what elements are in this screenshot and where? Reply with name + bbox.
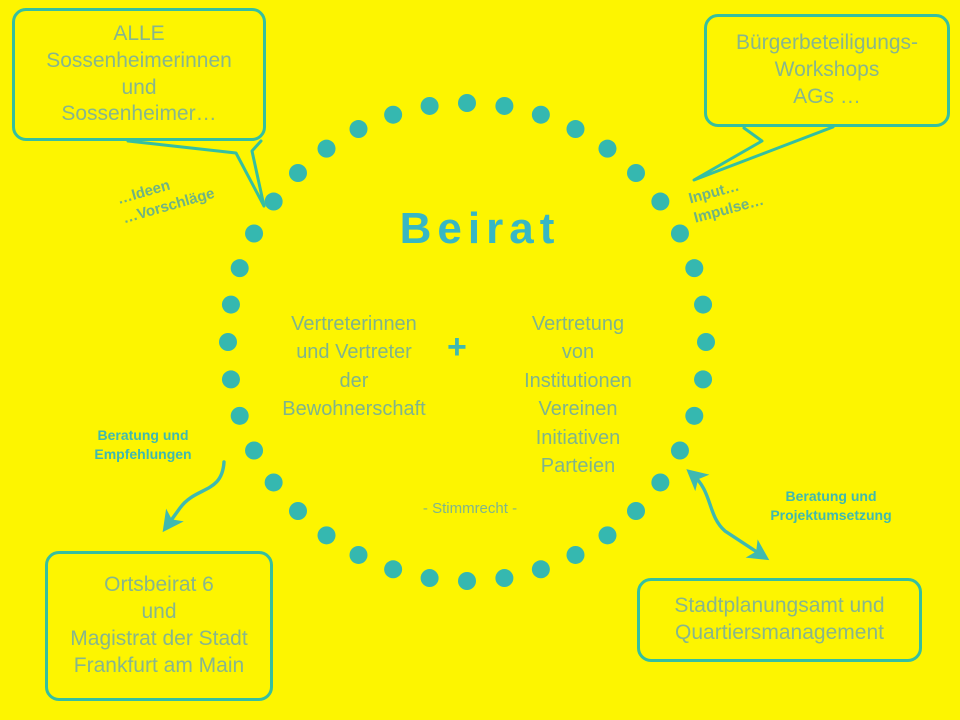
annotation-beratung-empfehlungen: Beratung und Empfehlungen — [73, 426, 213, 464]
circle-dot — [532, 560, 550, 578]
circle-dot — [694, 296, 712, 314]
circle-dot — [384, 560, 402, 578]
circle-dot — [265, 473, 283, 491]
callout-ortsbeirat[interactable]: Ortsbeirat 6 und Magistrat der Stadt Fra… — [45, 551, 273, 701]
circle-dot — [495, 569, 513, 587]
plus-icon: + — [447, 330, 467, 364]
callout-workshops[interactable]: Bürgerbeteiligungs- Workshops AGs … — [704, 14, 950, 127]
circle-dot — [694, 370, 712, 388]
circle-dot — [219, 333, 237, 351]
circle-dot — [318, 526, 336, 544]
circle-dot — [671, 442, 689, 460]
voting-rights-note: - Stimmrecht - — [360, 500, 580, 517]
circle-dot — [627, 502, 645, 520]
circle-dot — [245, 442, 263, 460]
callout-stadtplanungsamt[interactable]: Stadtplanungsamt und Quartiersmanagement — [637, 578, 922, 662]
circle-dot — [421, 97, 439, 115]
circle-dot — [222, 370, 240, 388]
circle-dot — [598, 526, 616, 544]
circle-dot — [627, 164, 645, 182]
circle-dot — [231, 407, 249, 425]
circle-dot — [318, 140, 336, 158]
callout-citizens[interactable]: ALLE Sossenheimerinnen und Sossenheimer… — [12, 8, 266, 141]
callout-workshops-label: Bürgerbeteiligungs- Workshops AGs … — [707, 30, 947, 111]
circle-dot — [495, 97, 513, 115]
circle-dot — [350, 120, 368, 138]
annotation-beratung-projektumsetzung: Beratung und Projektumsetzung — [743, 487, 919, 525]
arrow-beratung-empfehlungen — [167, 462, 224, 526]
members-institutions-column: Vertretung von Institutionen Vereinen In… — [492, 310, 664, 480]
circle-dot — [567, 120, 585, 138]
callout-ortsbeirat-label: Ortsbeirat 6 und Magistrat der Stadt Fra… — [48, 572, 270, 680]
members-residents-column: Vertreterinnen und Vertreter der Bewohne… — [268, 310, 440, 424]
diagram-canvas: ALLE Sossenheimerinnen und Sossenheimer…… — [0, 0, 960, 720]
circle-dot — [685, 407, 703, 425]
circle-dot — [697, 333, 715, 351]
circle-dot — [289, 502, 307, 520]
circle-dot — [421, 569, 439, 587]
circle-dot — [458, 94, 476, 112]
circle-dot — [685, 259, 703, 277]
circle-dot — [350, 546, 368, 564]
circle-dot — [231, 259, 249, 277]
circle-dot — [567, 546, 585, 564]
diagram-title: Beirat — [0, 204, 960, 254]
circle-dot — [458, 572, 476, 590]
callout-citizens-label: ALLE Sossenheimerinnen und Sossenheimer… — [15, 21, 263, 129]
circle-dot — [289, 164, 307, 182]
callout-stadtplanungsamt-label: Stadtplanungsamt und Quartiersmanagement — [640, 593, 919, 647]
circle-dot — [598, 140, 616, 158]
circle-dot — [384, 106, 402, 124]
circle-dot — [222, 296, 240, 314]
circle-dot — [532, 106, 550, 124]
